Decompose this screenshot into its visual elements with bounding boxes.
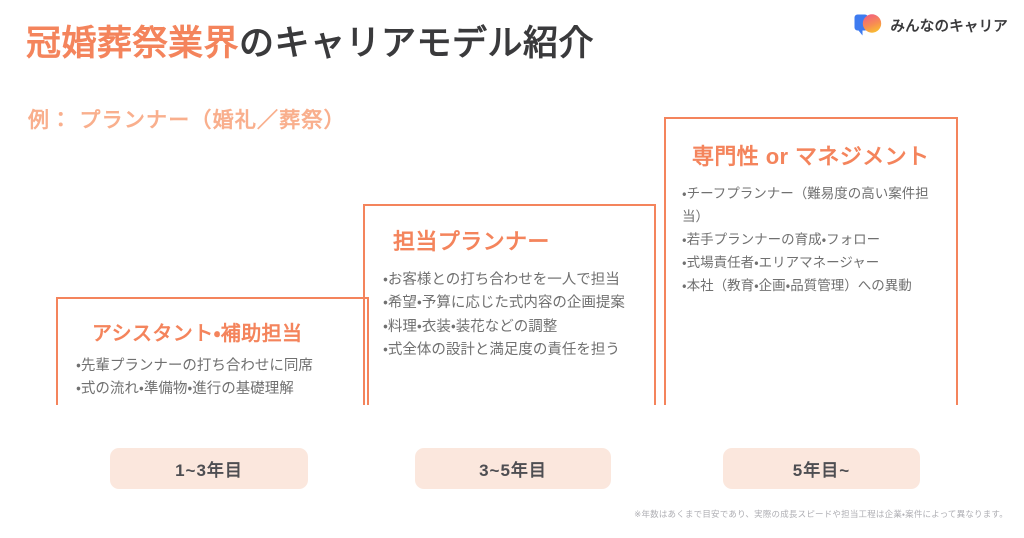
stage-1-bullets: ・先輩プランナーの打ち合わせに同席 ・式の流れ・準備物・進行の基礎理解 <box>76 355 353 402</box>
page-title-plain: のキャリアモデル紹介 <box>239 24 594 63</box>
list-item: ・若手プランナーの育成・フォロー <box>682 228 942 251</box>
brand-name: みんなのキャリア <box>890 15 1008 36</box>
stage-card-3: 専門性 or マネジメント ・チーフプランナー（難易度の高い案件担当） ・若手プ… <box>664 117 958 405</box>
year-badge-1: 1~3年目 <box>110 448 308 489</box>
footnote: ※年数はあくまで目安であり、実際の成長スピードや担当工程は企業・案件によって異な… <box>634 508 1008 520</box>
list-item: ・式場責任者・エリアマネージャー <box>682 251 942 274</box>
page-title-accent: 冠婚葬祭業界 <box>26 24 239 63</box>
list-item: ・先輩プランナーの打ち合わせに同席 <box>76 355 353 378</box>
stage-1-title: アシスタント・補助担当 <box>92 321 353 347</box>
stage-card-2: 担当プランナー ・お客様との打ち合わせを一人で担当 ・希望・予算に応じた式内容の… <box>363 204 656 405</box>
list-item: ・チーフプランナー（難易度の高い案件担当） <box>682 182 942 228</box>
list-item: ・お客様との打ち合わせを一人で担当 <box>383 269 640 292</box>
stage-3-bullets: ・チーフプランナー（難易度の高い案件担当） ・若手プランナーの育成・フォロー ・… <box>682 182 942 298</box>
list-item: ・本社（教育・企画・品質管理）への異動 <box>682 274 942 297</box>
list-item: ・式全体の設計と満足度の責任を担う <box>383 339 640 362</box>
list-item: ・料理・衣装・装花などの調整 <box>383 316 640 339</box>
stage-2-bullets: ・お客様との打ち合わせを一人で担当 ・希望・予算に応じた式内容の企画提案 ・料理… <box>383 269 640 363</box>
stage-card-1: アシスタント・補助担当 ・先輩プランナーの打ち合わせに同席 ・式の流れ・準備物・… <box>56 297 369 405</box>
year-badge-3: 5年目~ <box>723 448 920 489</box>
list-item: ・式の流れ・準備物・進行の基礎理解 <box>76 378 353 401</box>
speech-bubble-icon <box>853 12 883 39</box>
list-item: ・希望・予算に応じた式内容の企画提案 <box>383 292 640 315</box>
brand-logo: みんなのキャリア <box>853 12 1008 39</box>
year-badge-2: 3~5年目 <box>415 448 611 489</box>
page-title: 冠婚葬祭業界のキャリアモデル紹介 <box>26 22 594 66</box>
stage-2-title: 担当プランナー <box>393 228 640 257</box>
stage-3-title: 専門性 or マネジメント <box>692 143 942 172</box>
slide-canvas: 冠婚葬祭業界のキャリアモデル紹介 例： プランナー（婚礼／葬祭） みんなのキャリ… <box>0 0 1024 538</box>
page-subtitle: 例： プランナー（婚礼／葬祭） <box>28 104 346 134</box>
